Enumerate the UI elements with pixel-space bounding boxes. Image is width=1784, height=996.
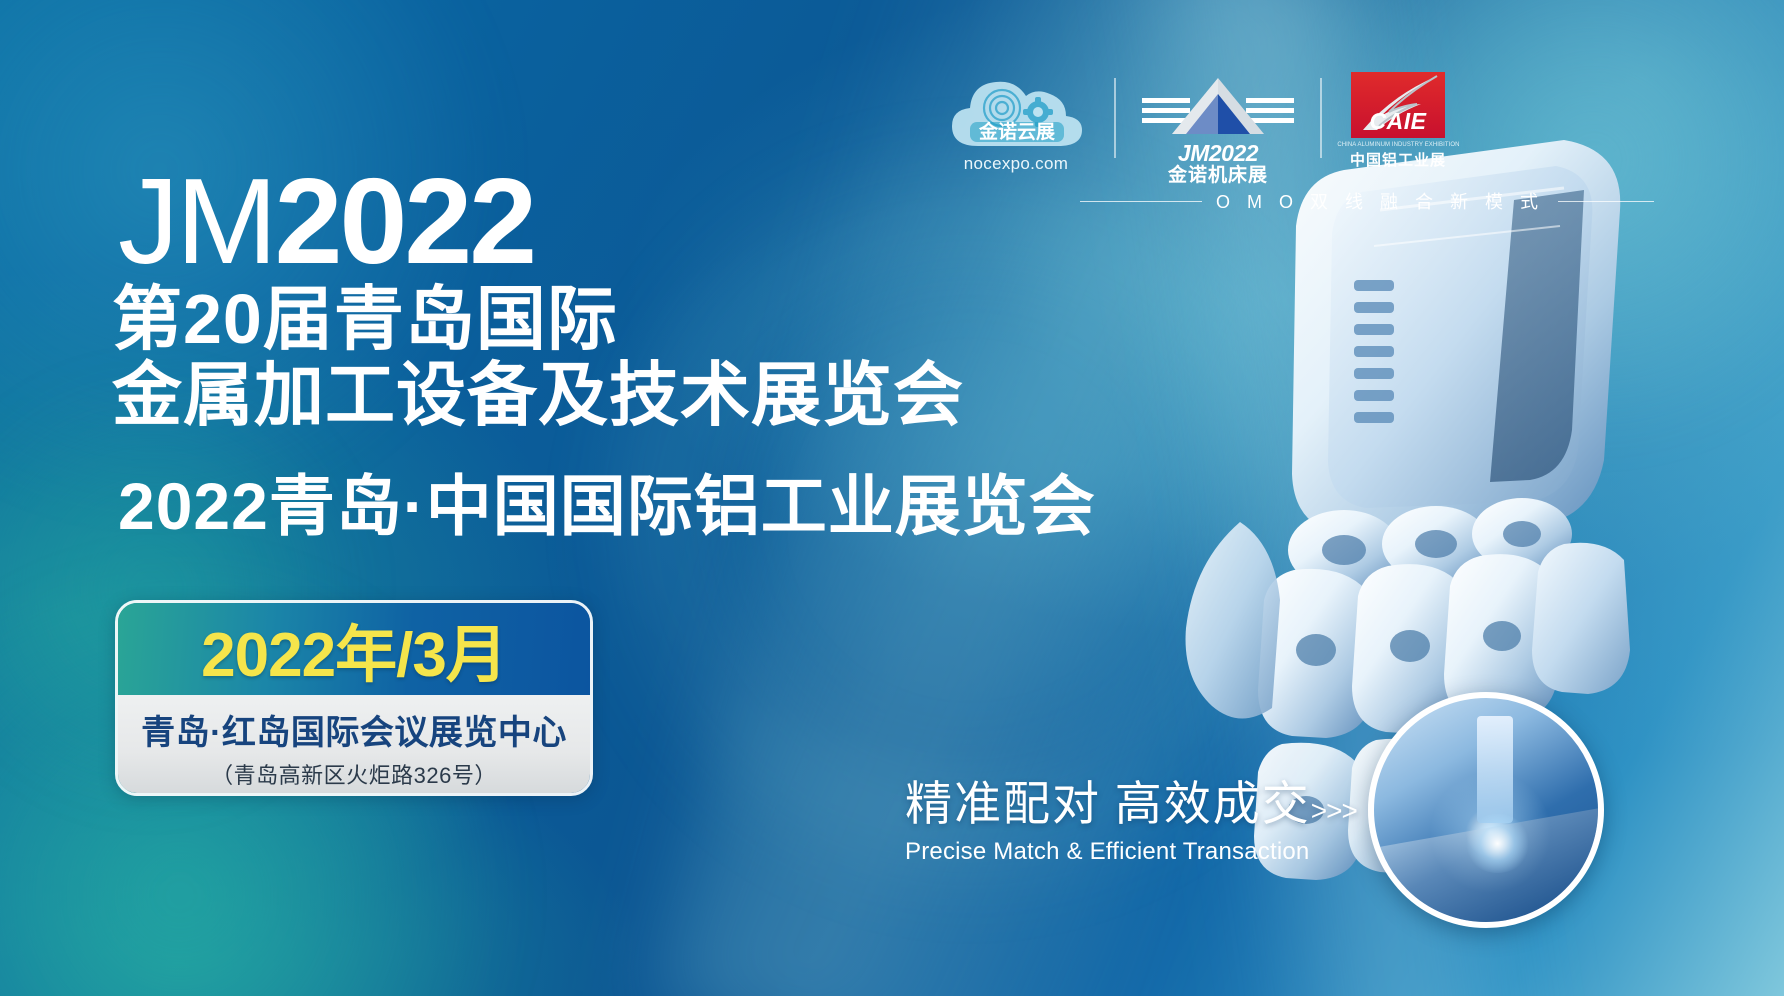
svg-text:金诺云展: 金诺云展 (978, 120, 1055, 143)
slogan-english: Precise Match & Efficient Transaction (905, 838, 1357, 866)
page-title-line-2: 金属加工设备及技术展览会 (112, 358, 964, 432)
cloud-expo-website[interactable]: nocexpo.com (964, 154, 1068, 174)
laser-cutting-inset-image (1368, 692, 1604, 928)
logo-jm-machine-tool[interactable]: JM2022 金诺机床展 (1138, 72, 1298, 187)
page-title-line-3: 2022青岛·中国国际铝工业展览会 (118, 472, 1096, 542)
slogan-block: 精准配对 高效成交>>> Precise Match & Efficient T… (905, 765, 1357, 866)
event-venue-band: 青岛·红岛国际会议展览中心 （青岛高新区火炬路326号） (118, 695, 590, 796)
event-info-card: 2022年/3月 青岛·红岛国际会议展览中心 （青岛高新区火炬路326号） (115, 600, 593, 796)
omo-tagline: O M O 双 线 融 合 新 模 式 (1080, 188, 1654, 214)
caie-abbr: CAIE (1351, 108, 1445, 135)
laser-nozzle (1477, 716, 1513, 824)
logo-caie[interactable]: CAIE CHINA ALUMINUM INDUSTRY EXHIBITION … (1344, 72, 1452, 170)
logo-cloud-expo[interactable]: 金诺云展 nocexpo.com (940, 72, 1092, 174)
jm-brand-year: 2022 (275, 153, 534, 289)
omo-rule-left (1080, 201, 1202, 202)
background-glow-top-right (1284, 0, 1784, 440)
slogan-arrows: >>> (1311, 795, 1357, 826)
jm-brand-logo: JM2022 (118, 160, 534, 282)
event-address: （青岛高新区火炬路326号） (211, 758, 497, 790)
event-date-band: 2022年/3月 (118, 603, 590, 695)
jm-machine-code: JM2022 (1168, 142, 1268, 165)
omo-tagline-text: O M O 双 线 融 合 新 模 式 (1216, 188, 1544, 214)
jm-triangle-icon (1138, 72, 1298, 144)
slogan-chinese-text: 精准配对 高效成交 (905, 779, 1311, 831)
cloud-expo-icon: 金诺云展 (940, 72, 1092, 152)
omo-rule-right (1558, 201, 1654, 202)
jm-brand-prefix: JM (118, 153, 275, 289)
event-venue: 青岛·红岛国际会议展览中心 (141, 705, 567, 754)
caie-icon: CAIE (1351, 72, 1445, 138)
exhibition-banner: 金诺云展 nocexpo.com JM2022 金诺机床展 (0, 0, 1784, 996)
logo-divider-1 (1114, 78, 1116, 158)
jm-machine-name: 金诺机床展 (1168, 165, 1268, 187)
caie-name-en: CHINA ALUMINUM INDUSTRY EXHIBITION (1337, 141, 1459, 148)
logo-divider-2 (1320, 78, 1322, 158)
caie-name-cn: 中国铝工业展 (1350, 149, 1446, 170)
page-title-line-1: 第20届青岛国际 (112, 282, 618, 356)
laser-spark (1464, 814, 1531, 872)
slogan-chinese: 精准配对 高效成交>>> (905, 765, 1357, 834)
event-date: 2022年/3月 (201, 604, 507, 694)
logo-bar: 金诺云展 nocexpo.com JM2022 金诺机床展 (940, 72, 1560, 187)
